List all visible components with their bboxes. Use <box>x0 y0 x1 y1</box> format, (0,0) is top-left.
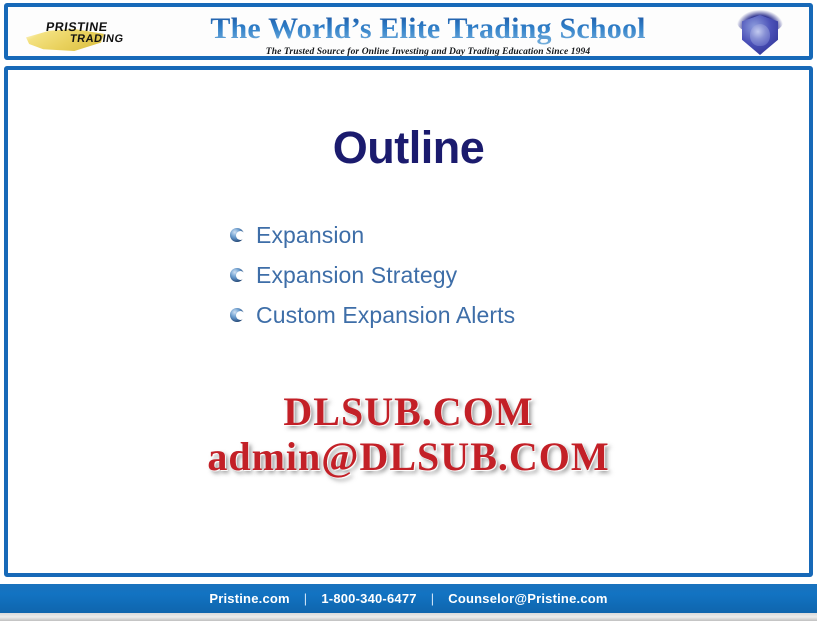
list-item: Custom Expansion Alerts <box>230 295 690 335</box>
sphere-bullet-icon <box>230 268 244 282</box>
footer-website[interactable]: Pristine.com <box>209 591 289 606</box>
outline-bullet-list: Expansion Expansion Strategy Custom Expa… <box>230 215 690 335</box>
slide-body: Outline Expansion Expansion Strategy Cus… <box>4 66 813 577</box>
sphere-bullet-icon <box>230 228 244 242</box>
crest-inner-emblem <box>750 24 770 46</box>
list-item-label: Custom Expansion Alerts <box>256 302 515 328</box>
list-item-label: Expansion <box>256 222 364 248</box>
watermark-overlay: DLSUB.COM admin@DLSUB.COM <box>8 392 809 478</box>
pristine-trading-logo[interactable]: PRISTINE TRADING <box>24 13 164 53</box>
slide-footer: Pristine.com | 1-800-340-6477 | Counselo… <box>0 584 817 613</box>
header-title: The World’s Elite Trading School <box>168 12 688 46</box>
logo-line-2: TRADING <box>69 33 124 45</box>
footer-contact-row: Pristine.com | 1-800-340-6477 | Counselo… <box>209 591 607 606</box>
watermark-site: DLSUB.COM <box>8 392 809 433</box>
footer-separator: | <box>431 591 435 606</box>
list-item-label: Expansion Strategy <box>256 262 457 288</box>
slide-header: PRISTINE TRADING The World’s Elite Tradi… <box>4 3 813 60</box>
shield-crest-icon <box>735 10 785 60</box>
header-background: PRISTINE TRADING The World’s Elite Tradi… <box>8 7 809 56</box>
bottom-strip <box>0 613 817 621</box>
logo-line-1: PRISTINE <box>45 20 109 34</box>
footer-separator: | <box>304 591 308 606</box>
sphere-bullet-icon <box>230 308 244 322</box>
watermark-email: admin@DLSUB.COM <box>8 437 809 478</box>
list-item: Expansion Strategy <box>230 255 690 295</box>
presentation-slide: PRISTINE TRADING The World’s Elite Tradi… <box>0 0 817 621</box>
footer-email[interactable]: Counselor@Pristine.com <box>448 591 607 606</box>
footer-phone[interactable]: 1-800-340-6477 <box>321 591 416 606</box>
page-title: Outline <box>8 124 809 172</box>
list-item: Expansion <box>230 215 690 255</box>
header-subtitle: The Trusted Source for Online Investing … <box>168 47 688 57</box>
